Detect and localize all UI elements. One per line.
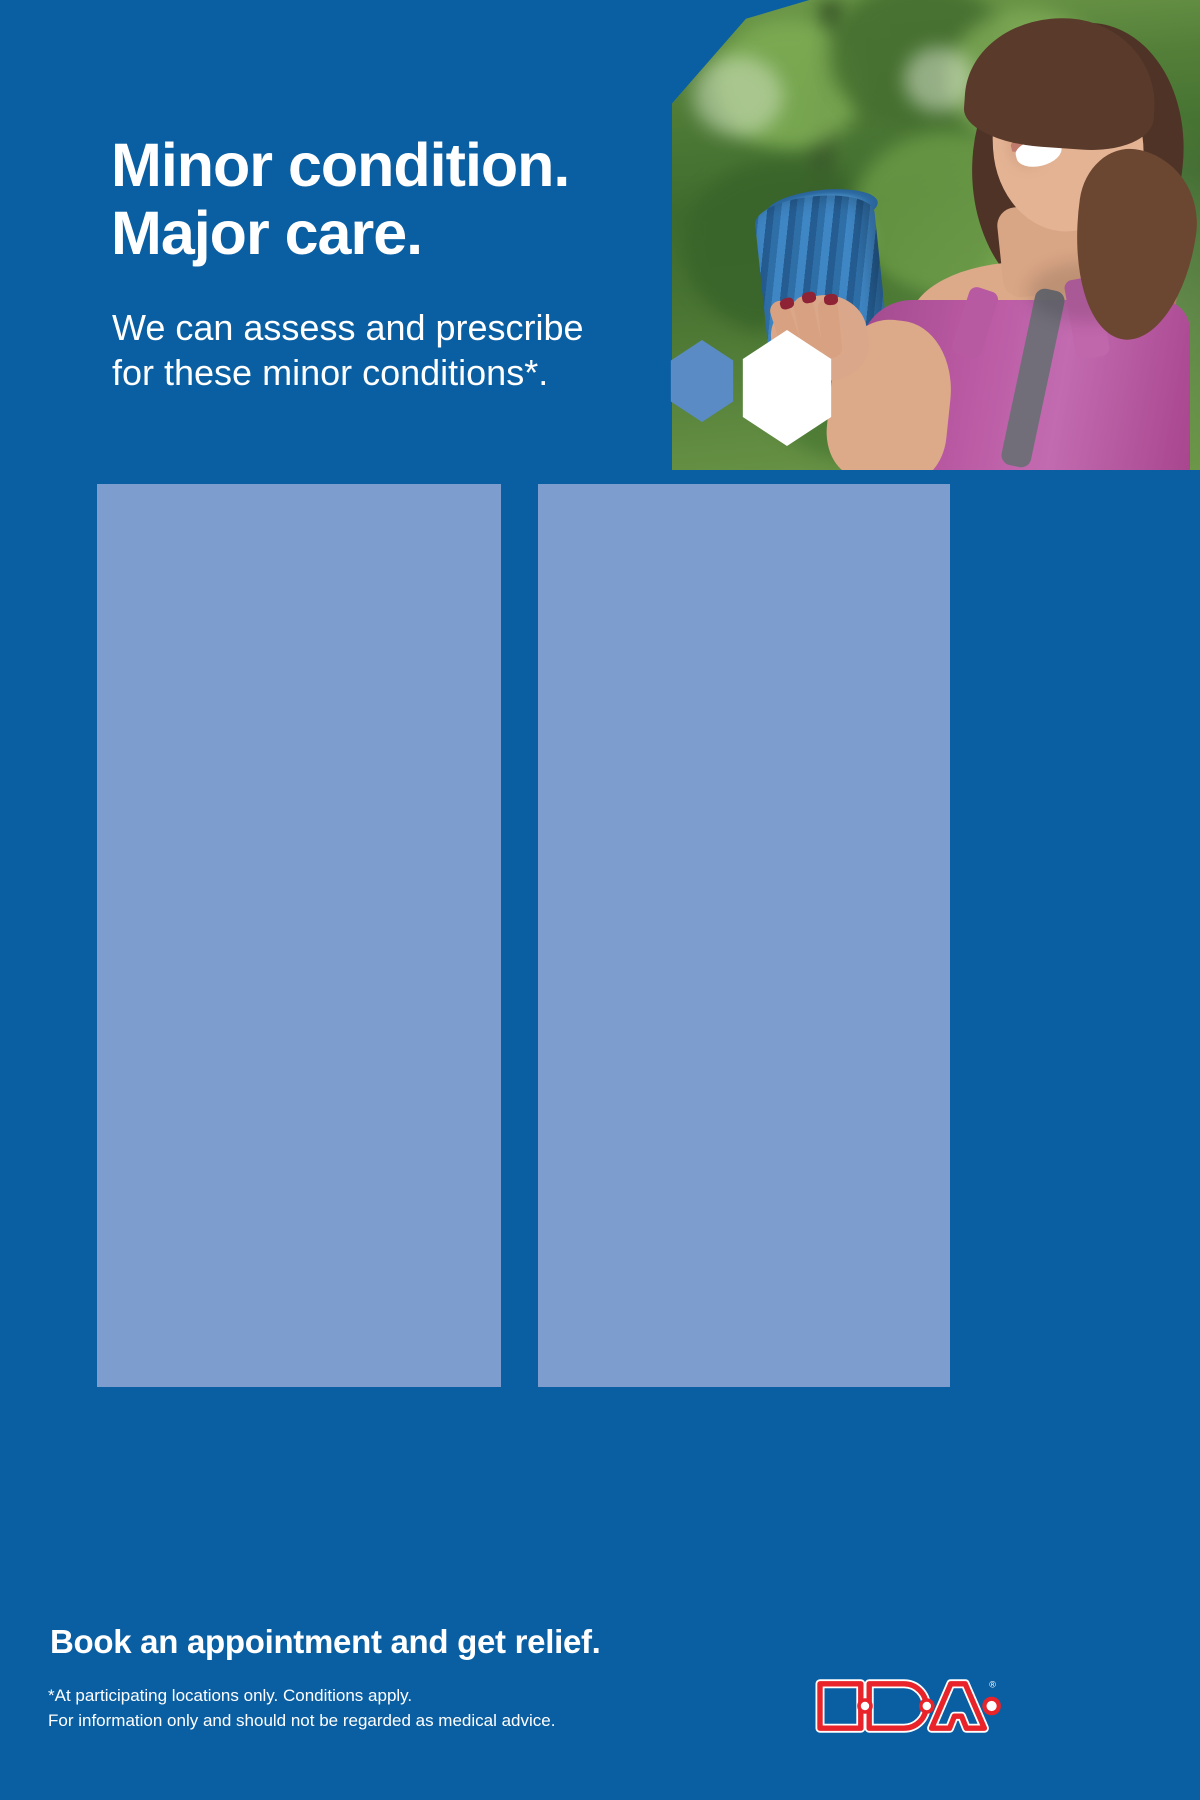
disclaimer-line-2: For information only and should not be r…: [48, 1711, 555, 1730]
headline-line-1: Minor condition.: [111, 131, 569, 199]
content-panel-right: [538, 484, 950, 1387]
trademark-symbol: ®: [989, 1679, 996, 1689]
ida-logo: ®: [814, 1674, 1006, 1738]
headline-line-2: Major care.: [111, 199, 422, 267]
content-panel-left: [97, 484, 501, 1387]
disclaimer-text: *At participating locations only. Condit…: [48, 1684, 555, 1733]
page-title: Minor condition. Major care.: [111, 131, 569, 268]
subtitle-line-1: We can assess and prescribe: [112, 307, 584, 348]
page-subtitle: We can assess and prescribe for these mi…: [112, 305, 584, 396]
disclaimer-line-1: *At participating locations only. Condit…: [48, 1686, 412, 1705]
subtitle-line-2: for these minor conditions*.: [112, 352, 548, 393]
cta-text: Book an appointment and get relief.: [50, 1623, 601, 1661]
